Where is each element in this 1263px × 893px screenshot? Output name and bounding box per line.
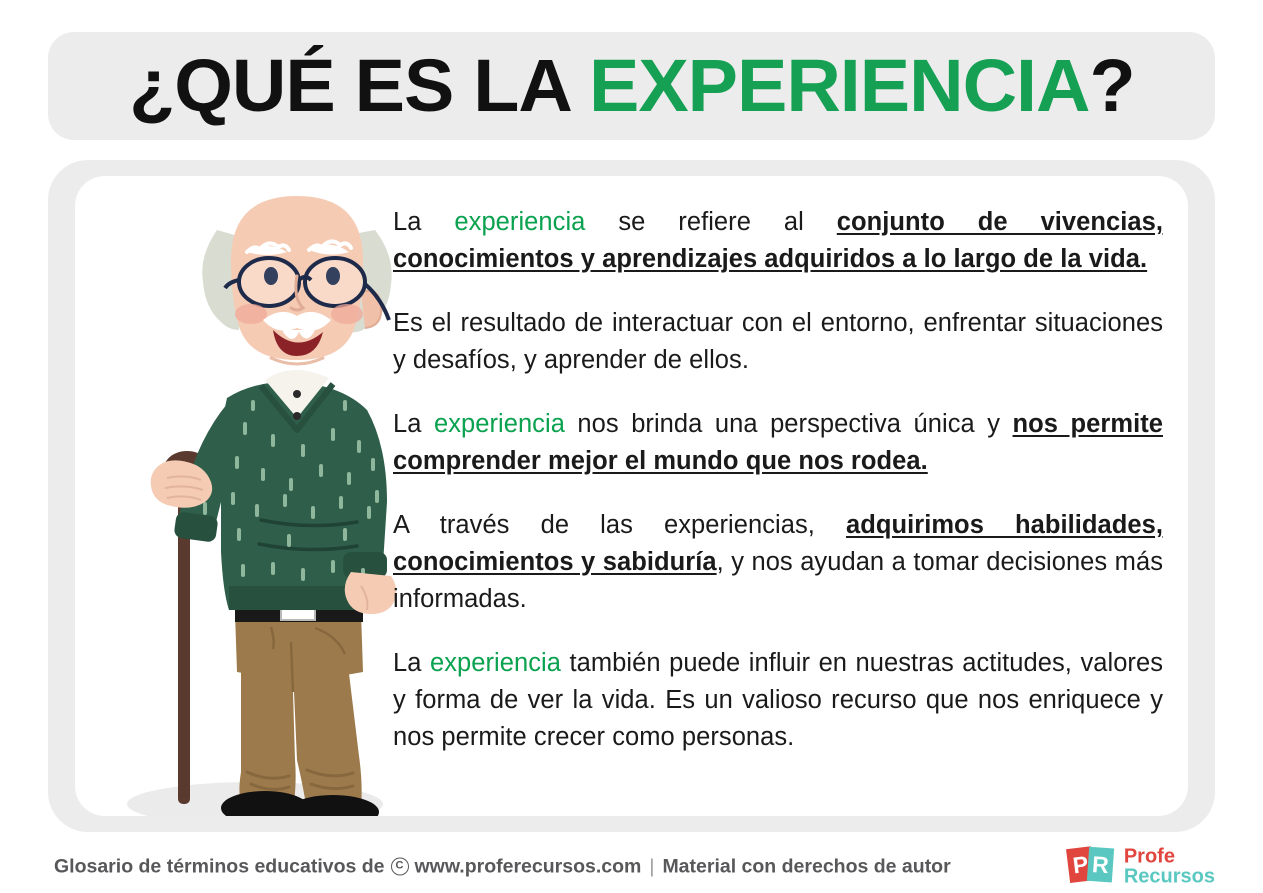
footer-lead-text: Glosario de términos educativos de <box>54 855 385 878</box>
title-part-plain-1: ¿QUÉ ES LA <box>129 44 589 127</box>
paragraph-2: Es el resultado de interactuar con el en… <box>393 305 1163 379</box>
title-part-highlight: EXPERIENCIA <box>589 44 1089 127</box>
proferecursos-logo[interactable]: P R Profe Recursos <box>1068 846 1215 887</box>
p5-run-2-keyword: experiencia <box>430 649 561 677</box>
paragraph-3: La experiencia nos brinda una perspectiv… <box>393 406 1163 480</box>
title-part-plain-2: ? <box>1089 44 1134 127</box>
copyright-icon: C <box>391 858 409 876</box>
title-bar: ¿QUÉ ES LA EXPERIENCIA? <box>48 32 1215 140</box>
elderly-man-illustration <box>75 176 405 816</box>
shirt-button-bottom-icon <box>293 412 301 420</box>
p1-run-2-keyword: experiencia <box>454 208 585 236</box>
right-hand-icon <box>345 572 397 614</box>
left-cheek-icon <box>235 304 267 324</box>
logo-mark: P R <box>1068 848 1116 886</box>
paragraph-5: La experiencia también puede influir en … <box>393 645 1163 756</box>
p3-run-2-keyword: experiencia <box>434 410 565 438</box>
footer-bar: Glosario de términos educativos de C www… <box>0 840 1263 893</box>
footer-credit: Glosario de términos educativos de C www… <box>54 855 951 878</box>
paragraph-4: A través de las experiencias, adquirimos… <box>393 507 1163 618</box>
logo-word-recursos: Recursos <box>1124 867 1215 887</box>
footer-website-link[interactable]: www.proferecursos.com <box>415 855 642 878</box>
logo-letter-r: R <box>1087 847 1114 883</box>
right-eye-icon <box>326 267 340 285</box>
page-title: ¿QUÉ ES LA EXPERIENCIA? <box>129 49 1134 123</box>
paragraph-1: La experiencia se refiere al conjunto de… <box>393 204 1163 278</box>
content-card-inner: La experiencia se refiere al conjunto de… <box>75 176 1188 816</box>
p4-run-1: A través de las experiencias, <box>393 511 846 539</box>
footer-rights-text: Material con derechos de autor <box>662 855 950 878</box>
p3-run-1: La <box>393 410 434 438</box>
footer-separator: | <box>647 855 656 878</box>
p3-run-3: nos brinda una perspectiva única y <box>565 410 1013 438</box>
p1-run-1: La <box>393 208 454 236</box>
p2-run-1: Es el resultado de interactuar con el en… <box>393 309 1163 374</box>
content-card-outer: La experiencia se refiere al conjunto de… <box>48 160 1215 832</box>
logo-wordmark: Profe Recursos <box>1124 846 1215 887</box>
p1-run-3: se refiere al <box>585 208 836 236</box>
left-eye-icon <box>264 267 278 285</box>
shirt-button-top-icon <box>293 390 301 398</box>
logo-word-profe: Profe <box>1124 846 1215 866</box>
p5-run-1: La <box>393 649 430 677</box>
right-cheek-icon <box>331 304 363 324</box>
definition-body: La experiencia se refiere al conjunto de… <box>393 204 1163 756</box>
